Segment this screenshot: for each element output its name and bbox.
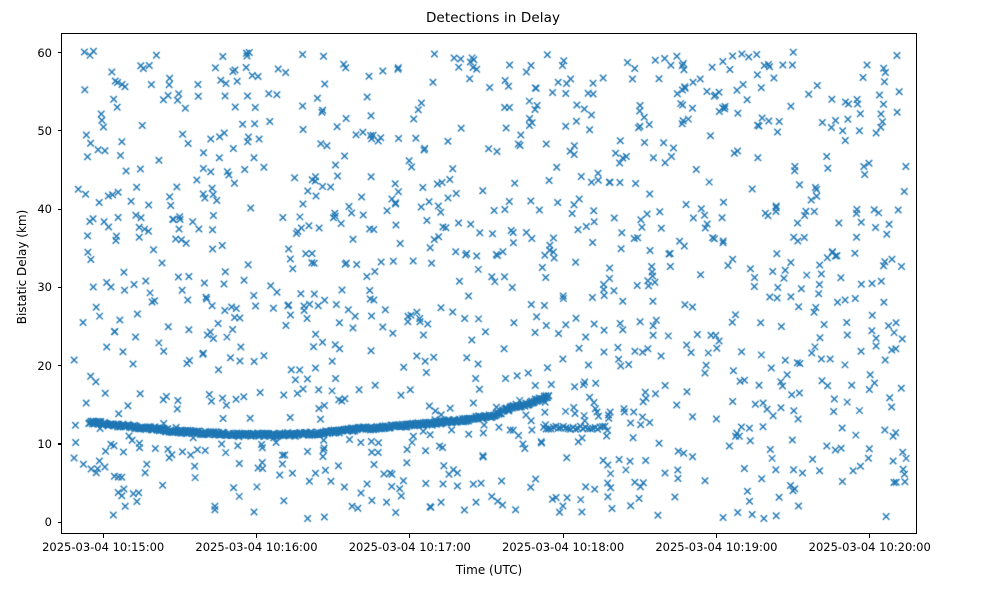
y-tick-mark	[58, 522, 62, 523]
x-tick-label: 2025-03-04 10:17:00	[349, 540, 471, 554]
x-tick-label: 2025-03-04 10:19:00	[655, 540, 777, 554]
scatter-plot-canvas	[62, 34, 917, 534]
matplotlib-figure: Detections in Delay 2025-03-04 10:15:002…	[0, 0, 986, 590]
y-tick-label: 60	[0, 46, 52, 60]
plot-area	[61, 33, 917, 534]
x-tick-mark	[563, 534, 564, 538]
x-tick-mark	[409, 534, 410, 538]
y-tick-mark	[58, 443, 62, 444]
x-tick-mark	[716, 534, 717, 538]
page-title: Detections in Delay	[0, 10, 986, 26]
y-tick-label: 10	[0, 437, 52, 451]
y-tick-mark	[58, 287, 62, 288]
x-tick-mark	[869, 534, 870, 538]
x-tick-label: 2025-03-04 10:18:00	[502, 540, 624, 554]
x-tick-label: 2025-03-04 10:15:00	[42, 540, 164, 554]
x-tick-label: 2025-03-04 10:16:00	[195, 540, 317, 554]
x-axis-label: Time (UTC)	[61, 563, 917, 577]
x-tick-label: 2025-03-04 10:20:00	[809, 540, 931, 554]
y-tick-mark	[58, 365, 62, 366]
y-tick-label: 0	[0, 515, 52, 529]
y-axis-label: Bistatic Delay (km)	[15, 117, 29, 417]
y-tick-mark	[58, 209, 62, 210]
x-tick-mark	[103, 534, 104, 538]
y-tick-mark	[58, 52, 62, 53]
y-tick-mark	[58, 130, 62, 131]
x-tick-mark	[256, 534, 257, 538]
